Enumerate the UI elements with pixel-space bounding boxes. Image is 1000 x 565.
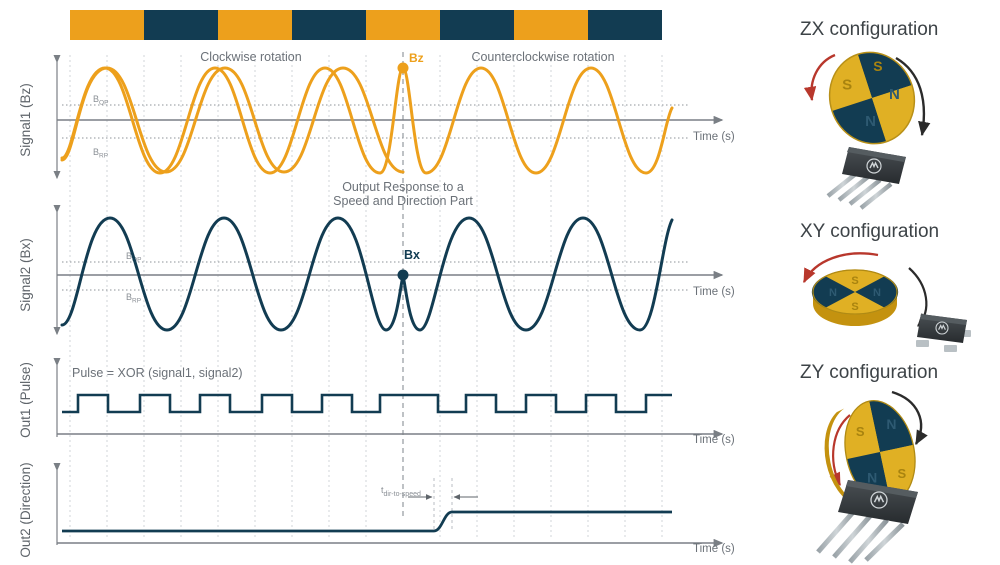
out1-y-axis-label: Out1 (Pulse) — [18, 362, 33, 438]
signal1-brp-label: BRP — [93, 147, 108, 160]
center-note-line2: Speed and Direction Part — [333, 194, 473, 208]
svg-text:N: N — [886, 416, 896, 432]
out1-xor-formula: Pulse = XOR (signal1, signal2) — [72, 366, 243, 380]
signal2-y-axis-label: Signal2 (Bx) — [18, 238, 33, 312]
signal2-x-axis-label: Time (s) — [693, 286, 735, 298]
center-note-line1: Output Response to a — [342, 180, 464, 194]
panel-signal1: Clockwise rotation Counterclockwise rota… — [18, 50, 735, 178]
config-zy-title: ZY configuration — [800, 362, 938, 383]
config-xy: XY configuration S N N S — [800, 221, 971, 352]
svg-text:S: S — [851, 301, 858, 313]
svg-text:N: N — [873, 287, 881, 299]
signal1-x-axis-label: Time (s) — [693, 131, 735, 143]
svg-text:S: S — [856, 424, 865, 439]
counterclockwise-rotation-label: Counterclockwise rotation — [471, 50, 614, 64]
vertical-gridlines — [70, 55, 662, 540]
signal1-y-axis-label: Signal1 (Bz) — [18, 83, 33, 157]
config-xy-title: XY configuration — [800, 221, 939, 242]
svg-text:S: S — [851, 275, 858, 287]
zy-ic-package — [818, 480, 918, 562]
signal2-brp-label: BRP — [126, 292, 141, 305]
out2-step-trace — [62, 512, 672, 531]
xy-ic-package — [916, 314, 971, 352]
zx-ic-package — [828, 147, 906, 208]
bz-marker-dot — [398, 63, 409, 74]
svg-text:S: S — [898, 466, 907, 481]
svg-text:N: N — [829, 287, 837, 299]
clockwise-rotation-label: Clockwise rotation — [200, 50, 301, 64]
out2-x-axis-label: Time (s) — [693, 543, 735, 555]
svg-text:S: S — [873, 58, 882, 74]
panel-out2: tdir-to-speed Out2 (Direction) Time (s) — [18, 462, 735, 557]
bz-marker-label: Bz — [409, 51, 424, 65]
config-zy: ZY configuration N S N S — [800, 362, 938, 562]
zx-magnet-disc: S N N S — [818, 41, 926, 154]
config-zx-title: ZX configuration — [800, 19, 938, 40]
t-dir-to-speed-label: tdir-to-speed — [381, 485, 421, 498]
magnet-pole-strip — [70, 10, 662, 40]
svg-text:N: N — [889, 86, 900, 103]
panel-out1: Pulse = XOR (signal1, signal2) Out1 (Pul… — [18, 362, 735, 446]
svg-text:S: S — [842, 76, 852, 93]
speed-direction-diagram: Clockwise rotation Counterclockwise rota… — [0, 0, 1000, 565]
out1-pulse-train — [62, 395, 672, 412]
panel-signal2: BOP BRP Bx Signal2 (Bx) Time (s) — [18, 212, 735, 334]
bx-marker-label: Bx — [404, 248, 420, 262]
svg-text:N: N — [865, 113, 876, 130]
svg-text:N: N — [867, 469, 877, 485]
xy-magnet-disc: S N N S — [812, 269, 898, 326]
config-zx: ZX configuration S N N S — [800, 19, 938, 208]
diagram-canvas: Clockwise rotation Counterclockwise rota… — [0, 0, 1000, 565]
bx-marker-dot — [398, 270, 409, 281]
out1-x-axis-label: Time (s) — [693, 434, 735, 446]
out2-y-axis-label: Out2 (Direction) — [18, 462, 33, 557]
signal2-waveform — [62, 218, 672, 330]
